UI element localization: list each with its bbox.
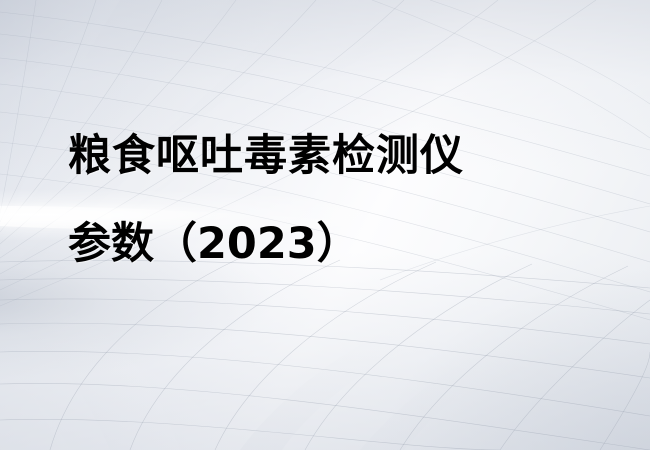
title-banner: 粮食呕吐毒素检测仪 参数（2023） <box>0 0 650 450</box>
banner-title-line-1: 粮食呕吐毒素检测仪 <box>68 112 588 200</box>
banner-title-line-2: 参数（2023） <box>68 200 588 288</box>
banner-title-block: 粮食呕吐毒素检测仪 参数（2023） <box>68 112 588 288</box>
